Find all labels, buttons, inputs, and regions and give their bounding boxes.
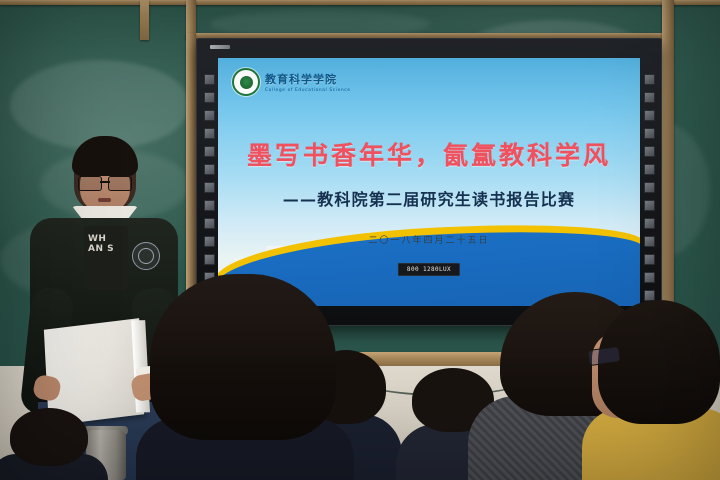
classroom-photo: 教育科学学院 College of Educational Science 墨写…	[0, 0, 720, 480]
slide-date: 二〇一八年四月二十五日	[218, 233, 640, 246]
ir-sensor-strip-left	[204, 74, 214, 306]
presentation-slide[interactable]: 教育科学学院 College of Educational Science 墨写…	[218, 58, 640, 306]
audience-far-left	[0, 410, 96, 480]
presenter-mouth	[98, 198, 111, 202]
jacket-emblem-icon	[132, 242, 160, 270]
logo-name-cn: 教育科学学院	[265, 71, 351, 87]
college-logo: 教育科学学院 College of Educational Science	[232, 68, 351, 96]
audience-long-hair-center	[150, 280, 340, 480]
slide-subtitle: ——教科院第二届研究生读书报告比赛	[218, 186, 640, 210]
power-led-icon	[210, 45, 230, 49]
college-emblem-icon	[232, 68, 260, 96]
slide-title: 墨写书香年华，氤氲教科学风	[218, 136, 640, 172]
brightness-osd-label: 800 1280LUX	[398, 263, 460, 276]
presenter-hair	[72, 136, 138, 176]
audience-yellow-top-glasses	[596, 302, 720, 480]
shirt-graphic-text: WH AN S	[88, 234, 124, 254]
glasses-icon	[78, 176, 132, 189]
ir-sensor-strip-right	[644, 74, 654, 306]
frame-rail-top	[0, 0, 720, 5]
frame-rail-vertical	[140, 0, 149, 40]
logo-name-en: College of Educational Science	[265, 88, 351, 93]
